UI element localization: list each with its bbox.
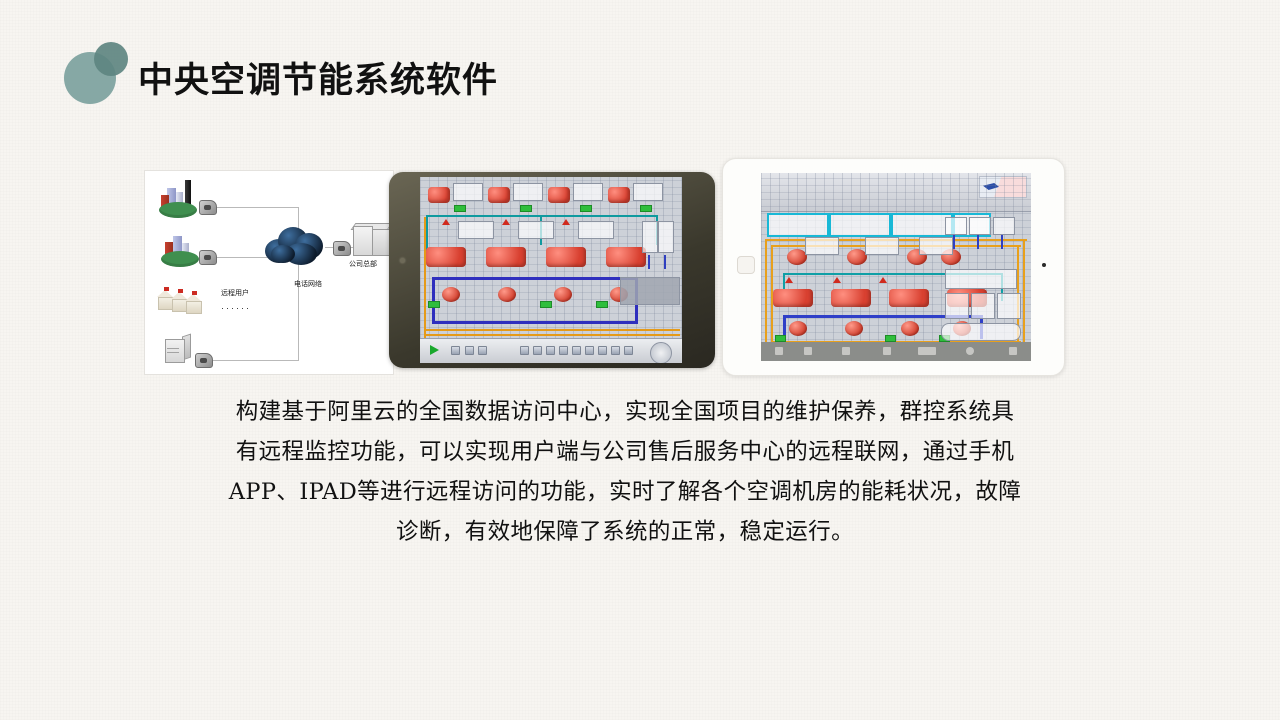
data-readout-box <box>578 221 614 239</box>
status-badge <box>454 205 466 212</box>
flow-arrow-icon <box>953 235 955 249</box>
valve-icon <box>562 219 570 225</box>
ahu-unit-box <box>941 323 1021 341</box>
status-badge <box>775 335 786 342</box>
control-panel-box <box>945 217 967 235</box>
data-readout-box <box>513 183 543 201</box>
pipe-chilled-water <box>426 215 658 217</box>
control-panel-box <box>945 293 969 319</box>
tool-icon[interactable] <box>520 346 529 355</box>
network-diagram-image: 电话网络 公司总部 远程用户 ······ <box>144 170 394 375</box>
chiller-main-unit <box>606 247 646 267</box>
node-local-server <box>165 335 189 361</box>
media-strip: 电话网络 公司总部 远程用户 ······ <box>0 0 1280 720</box>
scada-monitor-view <box>761 173 1031 361</box>
valve-icon <box>833 277 841 283</box>
tool-icon[interactable] <box>611 346 620 355</box>
cooling-tower-pump <box>787 249 807 265</box>
data-readout-box <box>945 269 1017 289</box>
data-readout-box <box>458 221 494 239</box>
pipe-cooling-water <box>432 277 638 280</box>
cooling-tower-unit <box>608 187 630 203</box>
pipe-condenser-water <box>424 334 680 336</box>
tool-icon[interactable] <box>559 346 568 355</box>
chiller-main-unit <box>486 247 526 267</box>
data-readout-box <box>633 183 663 201</box>
control-panel-box <box>993 217 1015 235</box>
paragraph-line-2: 有远程监控功能，可以实现用户端与公司售后服务中心的远程联网，通过手机 <box>195 432 1055 472</box>
tool-icon[interactable] <box>546 346 555 355</box>
pipe-cooling-water <box>432 277 435 323</box>
label-remote-users: 远程用户 <box>221 288 249 298</box>
pipe-condenser-water <box>1023 239 1025 349</box>
flow-arrow-icon <box>977 235 979 249</box>
data-readout-box <box>805 237 839 255</box>
chiller-main-unit <box>773 289 813 307</box>
ahu-unit-box <box>620 277 680 305</box>
pipe-condenser-water <box>765 239 767 349</box>
pump-unit <box>901 321 919 336</box>
tablet-white-device <box>722 158 1065 376</box>
pipe-condenser-water <box>424 217 426 339</box>
pump-unit <box>554 287 572 302</box>
cooling-tower-unit <box>488 187 510 203</box>
link-line <box>211 360 299 361</box>
control-panel-box <box>658 221 674 253</box>
node-office-building-small <box>161 232 203 270</box>
data-readout-box <box>453 183 483 201</box>
control-panel-box <box>642 221 658 253</box>
status-badge <box>640 205 652 212</box>
link-line <box>298 257 299 360</box>
tool-icon[interactable] <box>533 346 542 355</box>
status-badge <box>540 301 552 308</box>
pipe-cooling-water <box>432 321 638 324</box>
scada-monitor-view <box>420 177 682 363</box>
keyboard-icon[interactable] <box>918 347 936 355</box>
module-rack <box>891 213 953 237</box>
node-telephone-network-cloud <box>265 225 327 267</box>
label-headquarters: 公司总部 <box>349 259 377 269</box>
front-camera-icon <box>400 258 405 263</box>
flow-arrow-icon <box>648 255 650 269</box>
control-panel-box <box>971 293 995 319</box>
body-paragraph: 构建基于阿里云的全国数据访问中心，实现全国项目的维护保养，群控系统具 有远程监控… <box>195 392 1055 552</box>
home-button[interactable] <box>737 256 755 274</box>
valve-icon <box>785 277 793 283</box>
valve-icon <box>502 219 510 225</box>
module-rack <box>829 213 891 237</box>
node-headquarters-server <box>353 223 389 255</box>
data-readout-box <box>573 183 603 201</box>
tablet-dark-device <box>389 172 715 368</box>
control-panel-box <box>997 293 1021 319</box>
android-navigation-bar[interactable] <box>761 342 1031 361</box>
status-badge <box>885 335 896 342</box>
control-panel-box <box>969 217 991 235</box>
node-modem <box>199 200 217 215</box>
pipe-condenser-water <box>424 329 680 331</box>
back-icon[interactable] <box>775 347 783 355</box>
tool-icon[interactable] <box>572 346 581 355</box>
open-icon[interactable] <box>451 346 460 355</box>
front-camera-icon <box>1042 263 1046 267</box>
node-modem <box>199 250 217 265</box>
cooling-tower-pump <box>847 249 867 265</box>
label-telephone-network: 电话网络 <box>294 279 322 289</box>
data-readout-box <box>919 237 953 255</box>
label-ellipsis: ······ <box>221 303 251 313</box>
play-icon[interactable] <box>430 345 439 355</box>
node-office-building-tall <box>159 180 201 220</box>
tools-icon[interactable] <box>883 347 891 355</box>
cooling-tower-unit <box>548 187 570 203</box>
module-rack <box>767 213 829 237</box>
data-readout-box <box>865 237 899 255</box>
print-icon[interactable] <box>478 346 487 355</box>
tool-icon[interactable] <box>624 346 633 355</box>
menu-icon[interactable] <box>1009 347 1017 355</box>
flow-arrow-icon <box>664 255 666 269</box>
chiller-main-unit <box>889 289 929 307</box>
pump-unit <box>442 287 460 302</box>
tool-icon[interactable] <box>585 346 594 355</box>
status-badge <box>428 301 440 308</box>
status-badge <box>596 301 608 308</box>
home-icon[interactable] <box>966 347 974 355</box>
tablet-dark-screen[interactable] <box>420 177 682 363</box>
node-modem <box>195 353 213 368</box>
chiller-main-unit <box>426 247 466 267</box>
cooling-tower-unit <box>428 187 450 203</box>
bookmark-icon[interactable] <box>842 347 850 355</box>
paragraph-line-4: 诊断，有效地保障了系统的正常，稳定运行。 <box>195 512 1055 552</box>
save-icon[interactable] <box>465 346 474 355</box>
pump-unit <box>789 321 807 336</box>
flow-arrow-icon <box>1001 235 1003 249</box>
data-readout-box <box>518 221 554 239</box>
paragraph-line-3: APP、IPAD等进行远程访问的功能，实时了解各个空调机房的能耗状况，故障 <box>195 472 1055 512</box>
tool-icon[interactable] <box>598 346 607 355</box>
pump-unit <box>845 321 863 336</box>
tablet-white-screen[interactable] <box>761 173 1031 361</box>
paragraph-line-1: 构建基于阿里云的全国数据访问中心，实现全国项目的维护保养，群控系统具 <box>195 392 1055 432</box>
node-modem <box>333 241 351 256</box>
chiller-main-unit <box>546 247 586 267</box>
refresh-icon[interactable] <box>804 347 812 355</box>
scada-toolbar[interactable] <box>420 338 682 363</box>
valve-icon <box>442 219 450 225</box>
valve-icon <box>879 277 887 283</box>
status-badge <box>580 205 592 212</box>
chiller-main-unit <box>831 289 871 307</box>
status-badge <box>520 205 532 212</box>
pump-unit <box>498 287 516 302</box>
link-line <box>207 207 299 208</box>
gear-icon[interactable] <box>650 342 672 363</box>
